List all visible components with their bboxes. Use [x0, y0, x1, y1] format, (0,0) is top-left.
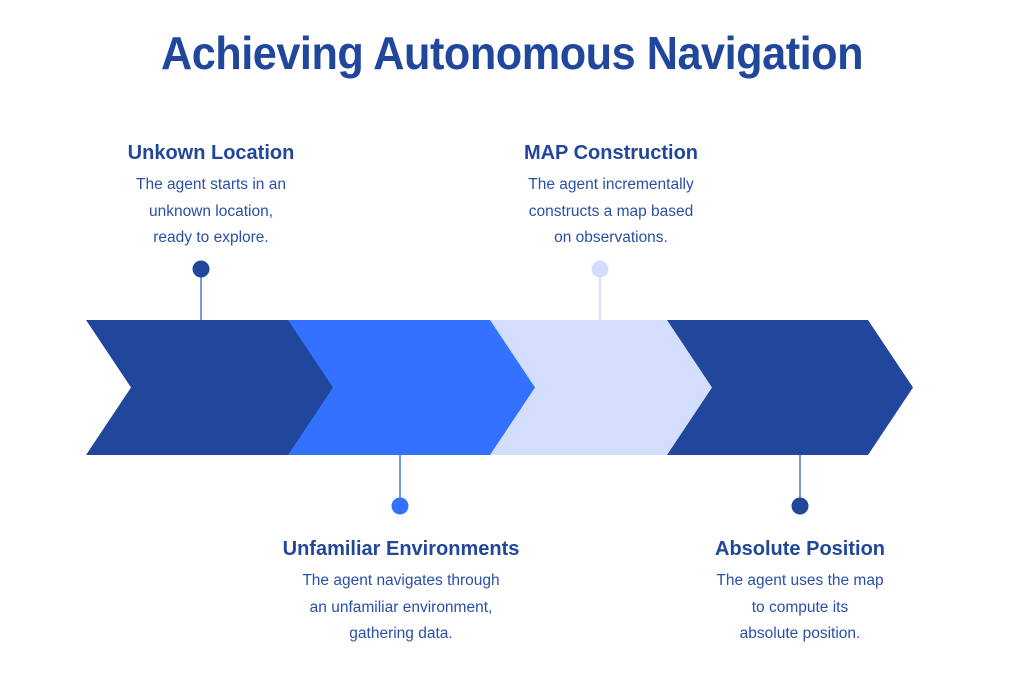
connector-step-2 — [392, 455, 409, 515]
step-body-unknown-location: The agent starts in an unknown location,… — [61, 172, 361, 252]
chevron-step-1[interactable] — [86, 320, 334, 455]
connector-step-3 — [592, 261, 609, 321]
step-label-absolute-position: Absolute Position The agent uses the map… — [655, 537, 945, 648]
chevron-step-3[interactable] — [490, 320, 713, 455]
step-label-map-construction: MAP Construction The agent incrementally… — [461, 141, 761, 252]
step-heading-unfamiliar-environments: Unfamiliar Environments — [246, 537, 556, 561]
page-title: Achieving Autonomous Navigation — [31, 26, 994, 80]
step-body-map-construction: The agent incrementally constructs a map… — [461, 172, 761, 252]
step-heading-absolute-position: Absolute Position — [655, 537, 945, 561]
chevron-step-4[interactable] — [667, 320, 913, 455]
chevron-step-2[interactable] — [288, 320, 536, 455]
connector-step-4 — [792, 455, 809, 515]
step-heading-map-construction: MAP Construction — [461, 141, 761, 165]
step-label-unknown-location: Unkown Location The agent starts in an u… — [61, 141, 361, 252]
step-label-unfamiliar-environments: Unfamiliar Environments The agent naviga… — [246, 537, 556, 648]
step-body-unfamiliar-environments: The agent navigates through an unfamilia… — [246, 568, 556, 648]
step-heading-unknown-location: Unkown Location — [61, 141, 361, 165]
step-body-absolute-position: The agent uses the map to compute its ab… — [655, 568, 945, 648]
connector-step-1 — [193, 261, 210, 321]
